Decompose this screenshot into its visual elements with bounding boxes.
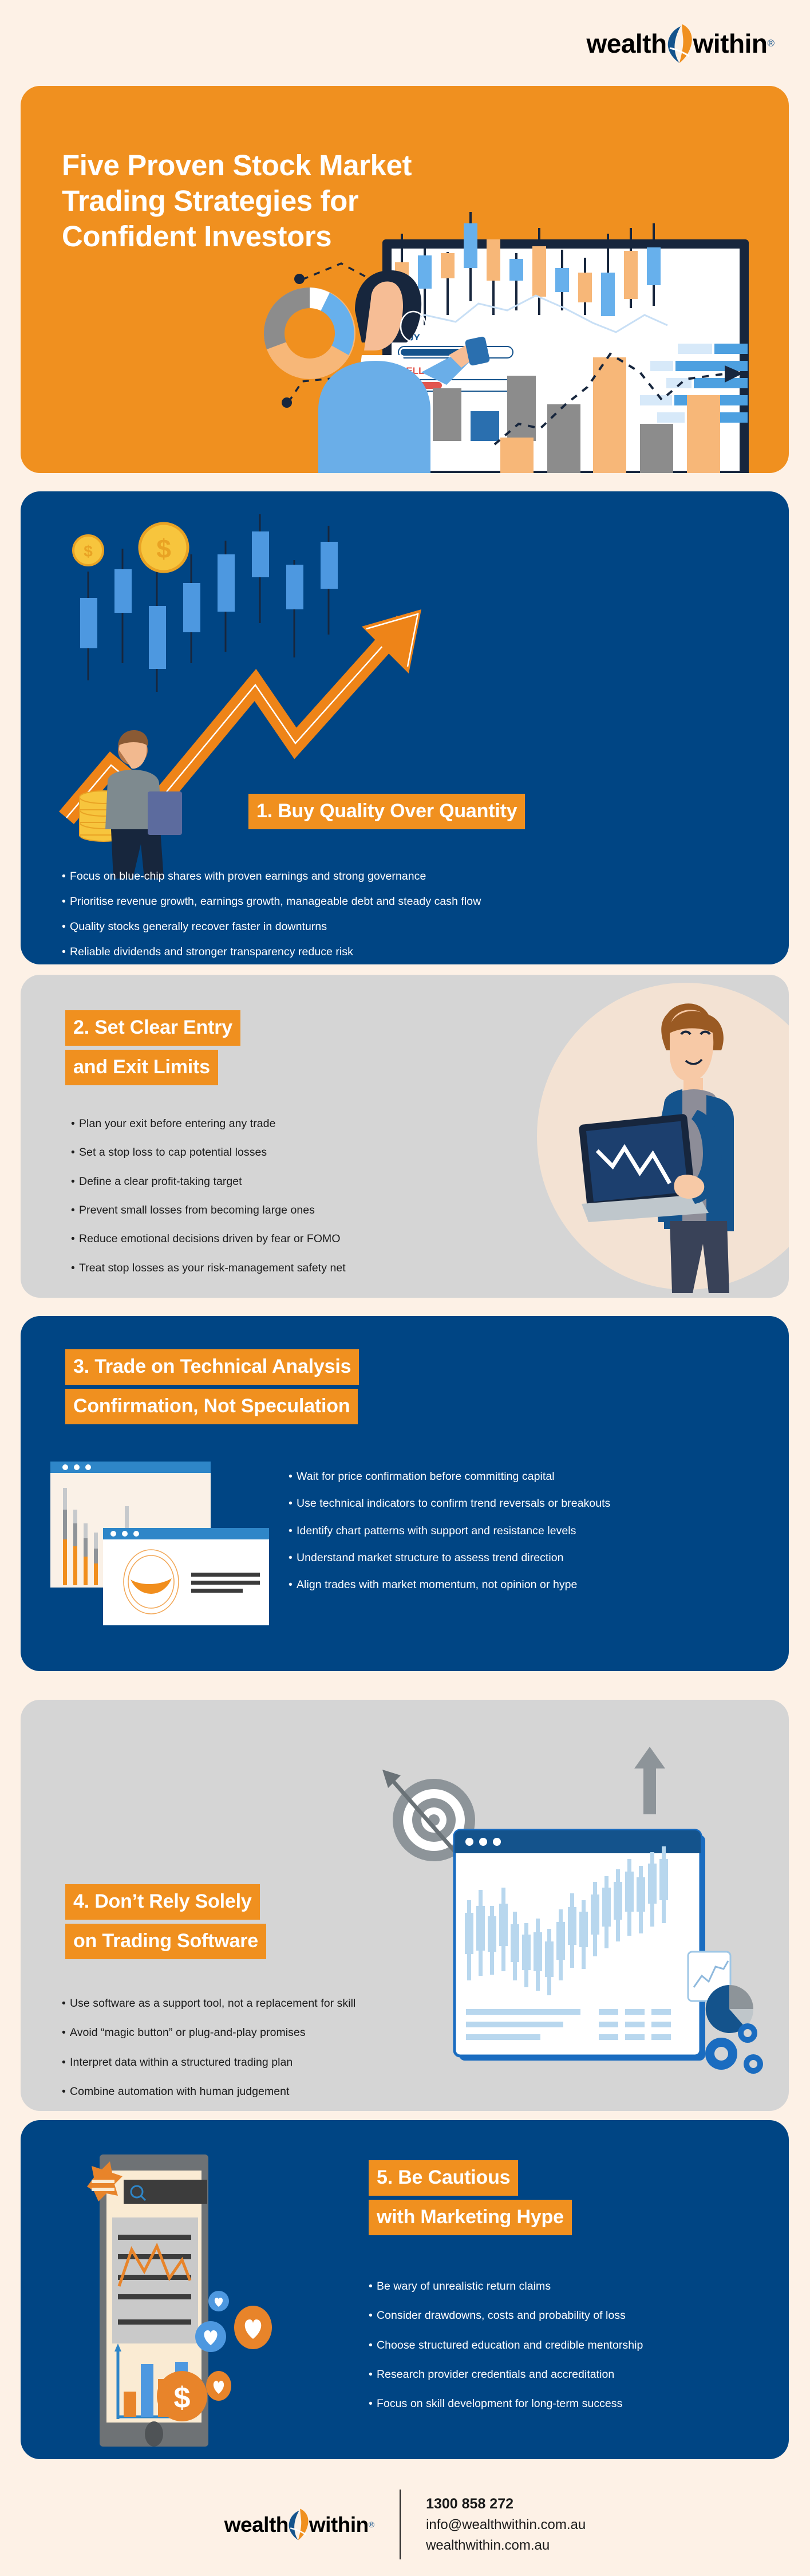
bullet-dot-icon: • [289,1524,297,1538]
bullet-text: Reliable dividends and stronger transpar… [70,945,353,959]
bullet-dot-icon: • [62,2085,70,2099]
section-4-heading-line-2: on Trading Software [65,1924,266,1959]
list-item: •Be wary of unrealistic return claims [369,2279,789,2294]
section-5-card: $ [21,2120,789,2459]
section-4-bullets: •Use software as a support tool, not a r… [62,1996,588,2111]
bullet-dot-icon: • [62,1996,70,2011]
bullet-dot-icon: • [369,2368,377,2382]
heart-reaction-orange-small-icon [206,2371,231,2401]
donut-chart-graphic [264,287,355,379]
bullet-dot-icon: • [62,895,70,909]
section-2-heading-line-1: 2. Set Clear Entry [65,1010,240,1046]
section-2-card: 2. Set Clear Entry and Exit Limits •Plan… [21,975,789,1298]
list-item: •Use software as a support tool, not a r… [62,1996,588,2011]
bullet-dot-icon: • [71,1117,79,1131]
bullet-text: Choose structured education and credible… [377,2338,643,2353]
list-item: •Align trades with market momentum, not … [289,1578,769,1592]
bullet-text: Consider drawdowns, costs and probabilit… [377,2309,626,2323]
list-item: •Reduce emotional decisions driven by fe… [71,1232,563,1246]
section-4-heading-line-1: 4. Don’t Rely Solely [65,1884,260,1920]
section-3-bullets: •Wait for price confirmation before comm… [289,1470,769,1603]
list-item: •Treat stop losses as your risk-manageme… [71,1261,563,1275]
section-4-heading: 4. Don’t Rely Solely on Trading Software [65,1884,266,1959]
section-1-card: $ $ [21,491,789,964]
section-3-heading: 3. Trade on Technical Analysis Confirmat… [65,1349,359,1424]
brand-logo-header[interactable]: wealth within ® [586,23,775,64]
bullet-dot-icon: • [289,1470,297,1484]
bullet-dot-icon: • [71,1232,79,1246]
bullet-text: Understand market structure to assess tr… [297,1551,564,1565]
gold-coin-small-icon: $ [73,535,103,565]
section-2-heading: 2. Set Clear Entry and Exit Limits [65,1010,240,1085]
section1-candlesticks [80,514,338,692]
gold-coin-large-icon: $ [140,523,188,572]
bullet-dot-icon: • [71,1175,79,1189]
bullet-text: Interpret data within a structured tradi… [70,2055,293,2070]
bullet-text: Avoid “magic button” or plug-and-play pr… [70,2026,306,2040]
bullet-text: Plan your exit before entering any trade [79,1117,275,1131]
svg-text:$: $ [84,542,93,560]
wealth-within-logo-icon [286,2507,310,2542]
logo-wealth-text: wealth [586,30,666,57]
list-item: •Wait for price confirmation before comm… [289,1470,769,1484]
list-item: •Avoid “magic button” or plug-and-play p… [62,2026,588,2040]
section-5-illustration: $ [55,2137,410,2447]
bullet-text: Align trades with market momentum, not o… [297,1578,577,1592]
bullet-dot-icon: • [62,2026,70,2040]
section-4-card: 4. Don’t Rely Solely on Trading Software… [21,1700,789,2111]
businessman-graphic [105,730,182,879]
section-3-illustration [41,1442,327,1671]
list-item: •Prevent small losses from becoming larg… [71,1203,563,1218]
svg-text:$: $ [174,2381,191,2414]
footer-phone[interactable]: 1300 858 272 [426,2496,586,2512]
list-item: •Interpret data within a structured trad… [62,2055,588,2070]
section-2-heading-line-2: and Exit Limits [65,1050,218,1085]
list-item: •Prioritise revenue growth, earnings gro… [62,895,760,909]
list-item: •Identify chart patterns with support an… [289,1524,769,1538]
logo-wealth-text: wealth [224,2514,289,2535]
footer: wealth within ® 1300 858 272 info@wealth… [0,2473,810,2576]
bullet-text: Use technical indicators to confirm tren… [297,1496,610,1511]
section-1-heading-line-1: 1. Buy Quality Over Quantity [248,794,525,829]
footer-website[interactable]: wealthwithin.com.au [426,2538,586,2554]
section-5-bullets: •Be wary of unrealistic return claims •C… [369,2279,789,2422]
wealth-within-logo-icon [665,23,694,64]
heart-reaction-orange-large-icon [234,2306,272,2349]
hero-banner: Five Proven Stock Market Trading Strateg… [21,86,789,473]
bullet-text: Reduce emotional decisions driven by fea… [79,1232,341,1246]
bullet-text: Be wary of unrealistic return claims [377,2279,551,2294]
heart-reaction-blue-icon [195,2321,226,2352]
list-item: •Use technical indicators to confirm tre… [289,1496,769,1511]
section-1-heading: 1. Buy Quality Over Quantity [248,794,525,829]
bullet-text: Research provider credentials and accred… [377,2368,614,2382]
front-window-graphic [103,1528,269,1625]
list-item: •Combine automation with human judgement [62,2085,588,2099]
bullet-dot-icon: • [62,2055,70,2070]
list-item: •Define a clear profit-taking target [71,1175,563,1189]
bullet-text: Combine automation with human judgement [70,2085,290,2099]
bullet-text: Quality stocks generally recover faster … [70,920,327,934]
bullet-dot-icon: • [62,945,70,959]
bullet-text: Identify chart patterns with support and… [297,1524,576,1538]
bullet-dot-icon: • [71,1203,79,1218]
section-3-card: 3. Trade on Technical Analysis Confirmat… [21,1316,789,1671]
bullet-dot-icon: • [71,1261,79,1275]
dollar-coin-icon: $ [157,2371,207,2421]
bullet-text: Prevent small losses from becoming large… [79,1203,315,1218]
bullet-text: Treat stop losses as your risk-managemen… [79,1261,346,1275]
bullet-dot-icon: • [369,2309,377,2323]
svg-text:$: $ [156,534,171,564]
section-2-bullets: •Plan your exit before entering any trad… [71,1117,563,1286]
bullet-text: Wait for price confirmation before commi… [297,1470,555,1484]
bullet-text: Focus on blue-chip shares with proven ea… [70,869,426,884]
bullet-dot-icon: • [71,1145,79,1160]
list-item: •Set a stop loss to cap potential losses [71,1145,563,1160]
list-item: •Understand market structure to assess t… [289,1551,769,1565]
section-3-heading-line-1: 3. Trade on Technical Analysis [65,1349,359,1385]
bullet-text: Use software as a support tool, not a re… [70,1996,355,2011]
section-3-heading-line-2: Confirmation, Not Speculation [65,1389,358,1424]
brand-logo-footer[interactable]: wealth within ® [224,2507,374,2542]
infographic-page: wealth within ® Five Proven Stock Market… [0,0,810,2576]
logo-registered-mark: ® [369,2520,374,2529]
section-5-heading-line-1: 5. Be Cautious [369,2160,518,2196]
section-1-illustration: $ $ [21,491,456,846]
bullet-dot-icon: • [369,2397,377,2411]
section-4-illustration [353,1740,765,2038]
footer-divider [400,2490,401,2559]
bullet-dot-icon: • [289,1551,297,1565]
list-item: •Focus on blue-chip shares with proven e… [62,869,760,884]
list-item: •Reliable dividends and stronger transpa… [62,945,760,959]
bullet-text: Focus on skill development for long-term… [377,2397,622,2411]
list-item: •Plan your exit before entering any trad… [71,1117,563,1131]
footer-email[interactable]: info@wealthwithin.com.au [426,2517,586,2533]
list-item: •Research provider credentials and accre… [369,2368,789,2382]
list-item: •Consider drawdowns, costs and probabili… [369,2309,789,2323]
heart-reaction-small-blue-icon [208,2291,229,2311]
bullet-text: Define a clear profit-taking target [79,1175,242,1189]
logo-registered-mark: ® [767,38,775,49]
bullet-dot-icon: • [289,1578,297,1592]
bullet-text: Prioritise revenue growth, earnings grow… [70,895,481,909]
bullet-dot-icon: • [62,869,70,884]
logo-within-text: within [693,30,768,57]
bullet-dot-icon: • [62,920,70,934]
hero-illustration: BUY SELL [21,86,789,473]
section-1-bullets: •Focus on blue-chip shares with proven e… [62,869,760,964]
up-arrow-icon [634,1747,665,1814]
smartphone-graphic: $ [100,2154,208,2447]
bullet-dot-icon: • [369,2279,377,2294]
bullet-text: Set a stop loss to cap potential losses [79,1145,267,1160]
logo-within-text: within [309,2514,369,2535]
list-item: •Choose structured education and credibl… [369,2338,789,2353]
bullet-dot-icon: • [369,2338,377,2353]
bullet-dot-icon: • [289,1496,297,1511]
section-5-heading-line-2: with Marketing Hype [369,2200,572,2235]
section-5-heading: 5. Be Cautious with Marketing Hype [369,2160,572,2235]
list-item: •Quality stocks generally recover faster… [62,920,760,934]
list-item: •Focus on skill development for long-ter… [369,2397,789,2411]
